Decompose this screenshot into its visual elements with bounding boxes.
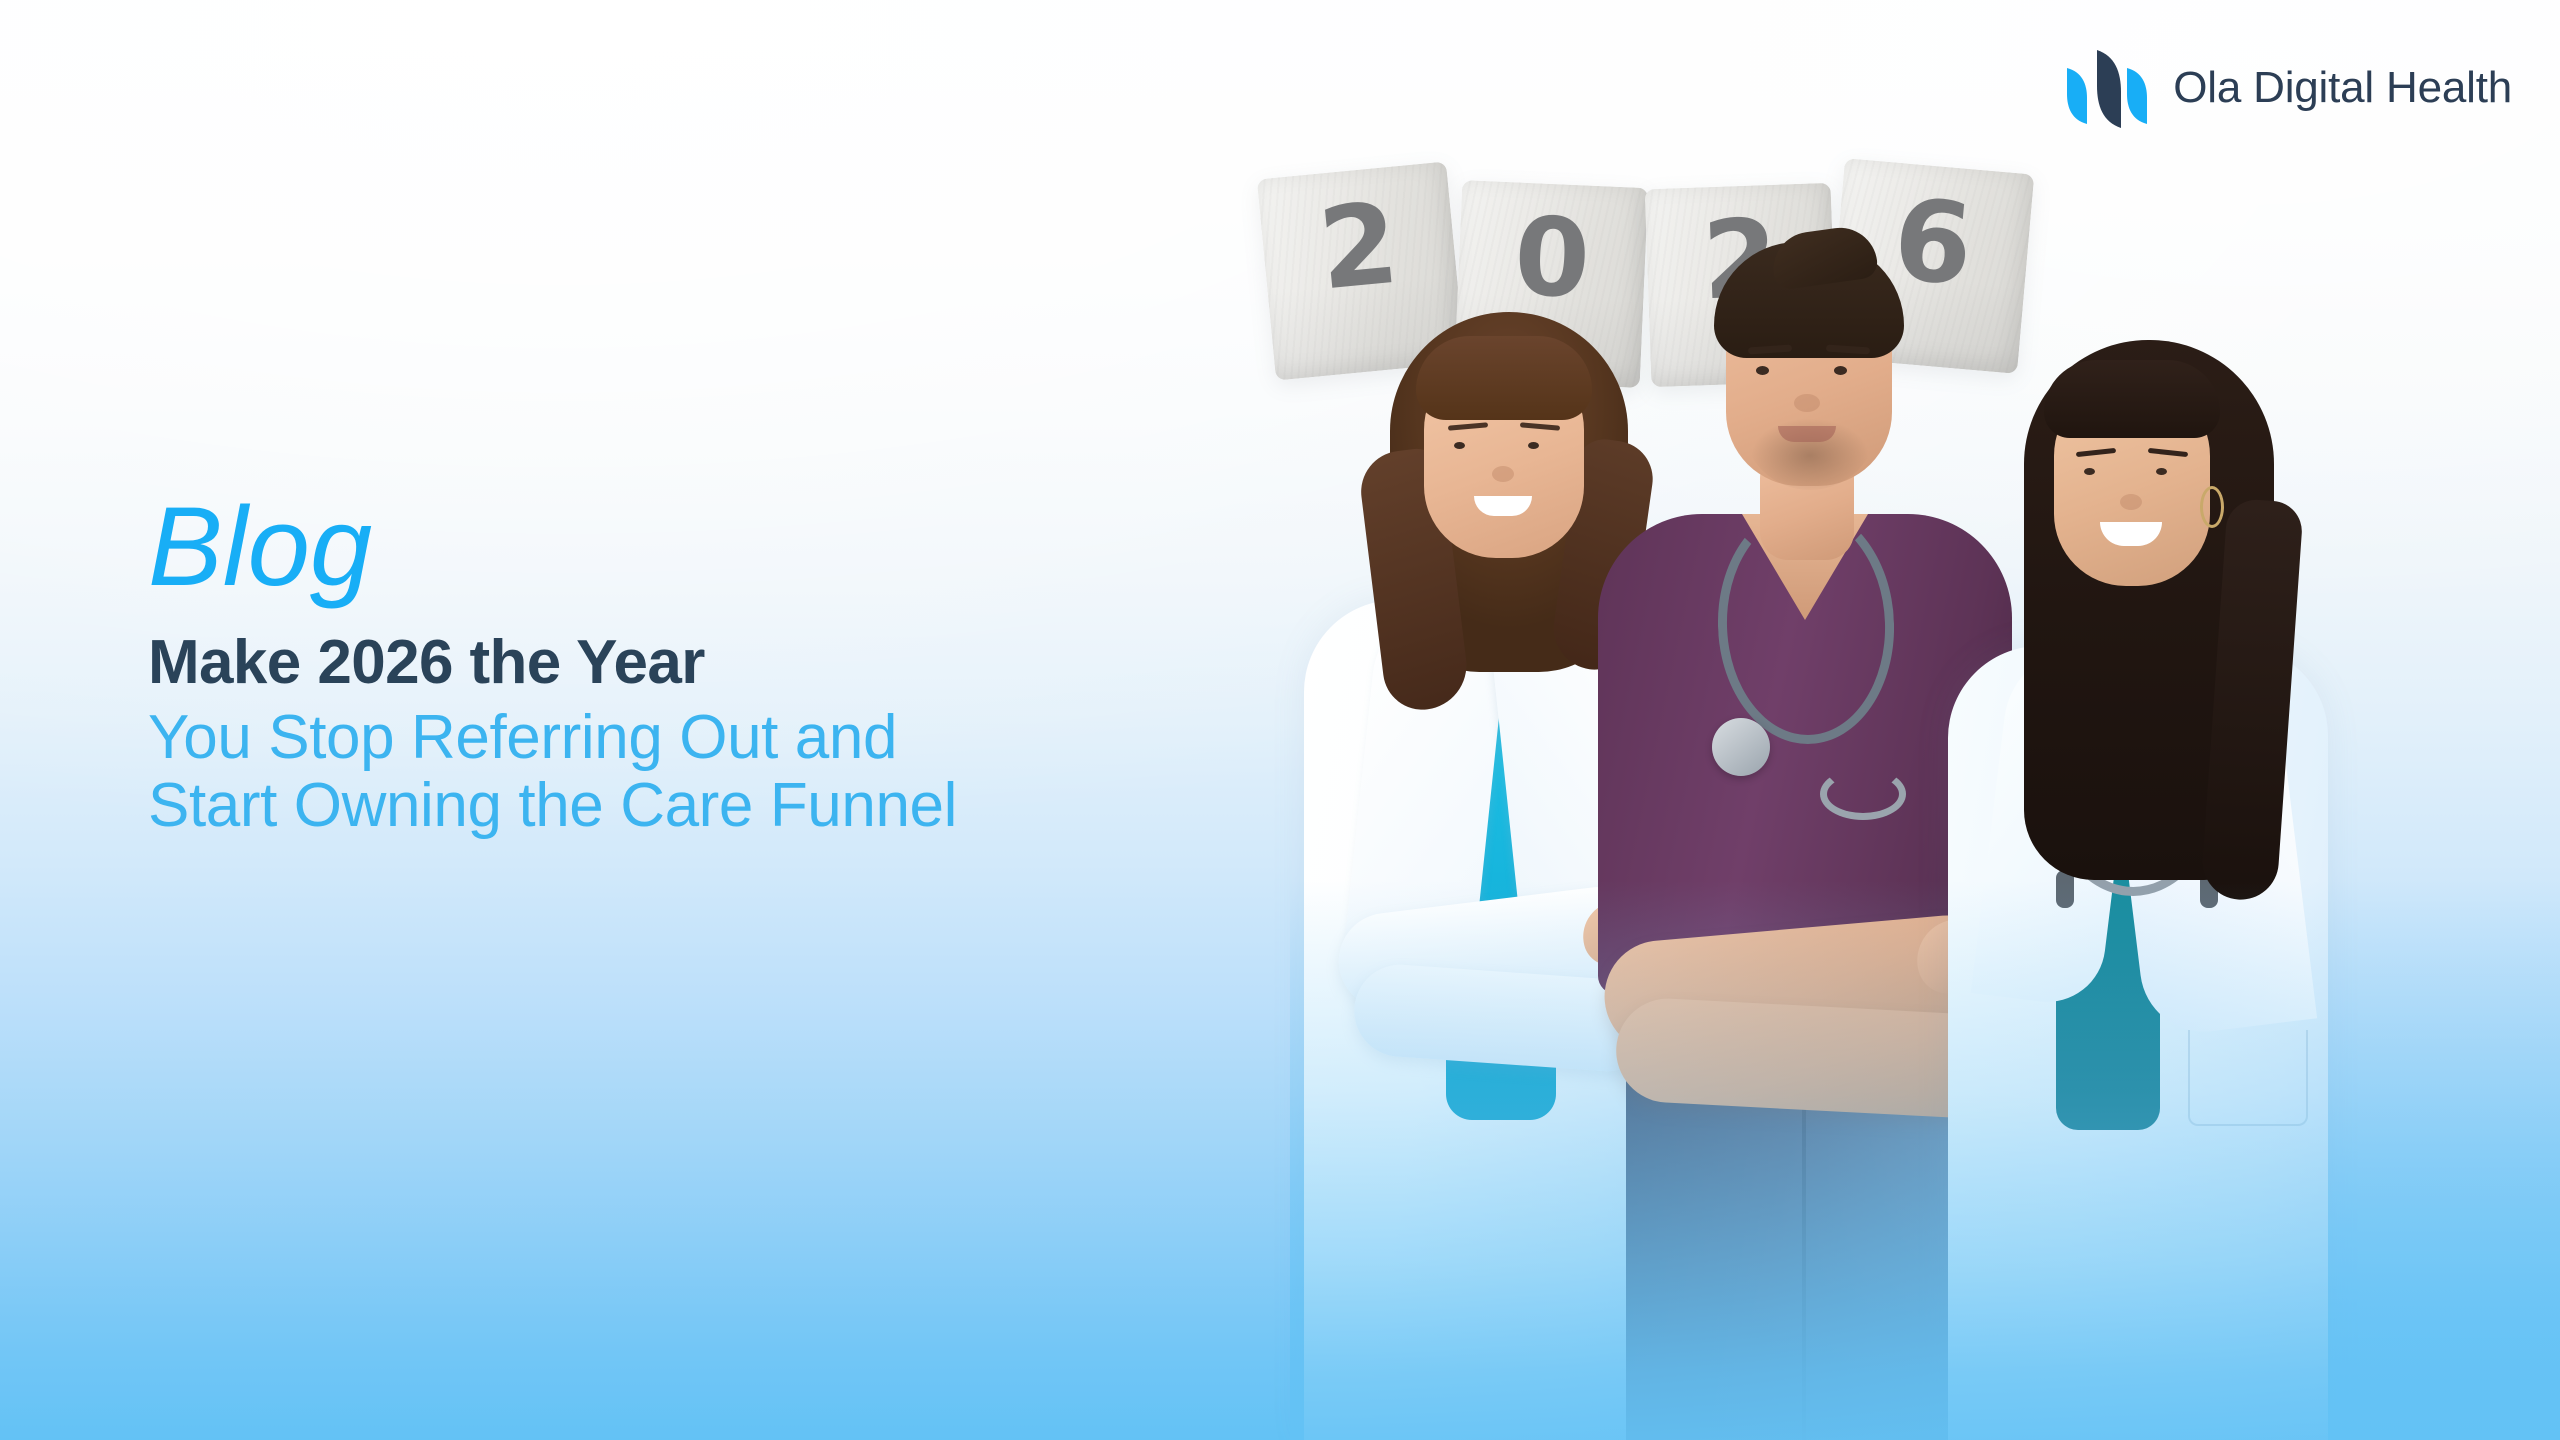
eye — [2084, 468, 2095, 475]
pants-seam — [1802, 1108, 1806, 1440]
eye — [2156, 468, 2167, 475]
hero-copy: Blog Make 2026 the Year You Stop Referri… — [148, 494, 1398, 840]
lab-coat-pocket — [2188, 1030, 2308, 1126]
hero-subline-two: Start Owning the Care Funnel — [148, 772, 1398, 840]
eye — [1834, 366, 1847, 375]
brand-logo[interactable]: Ola Digital Health — [2063, 48, 2512, 128]
nose — [2120, 494, 2142, 510]
hoop-earring — [2200, 486, 2224, 528]
nose — [1492, 466, 1514, 482]
hero-headline: Make 2026 the Year — [148, 630, 1398, 696]
hero-subline-one: You Stop Referring Out and — [148, 704, 1398, 772]
blog-kicker: Blog — [148, 494, 1398, 600]
brand-wordmark: Ola Digital Health — [2173, 66, 2512, 110]
ola-digital-health-logo-mark-icon — [2063, 48, 2151, 128]
hero-photo: 2 0 2 6 — [1290, 0, 2560, 1440]
wooden-block-digit: 2 — [1314, 179, 1404, 316]
hero-banner: 2 0 2 6 — [0, 0, 2560, 1440]
person-female-doctor-right — [1938, 330, 2358, 1440]
eye — [1454, 442, 1465, 449]
stethoscope-earpiece — [1820, 768, 1906, 820]
eye — [1528, 442, 1539, 449]
stethoscope-chestpiece — [1712, 718, 1770, 776]
eye — [1756, 366, 1769, 375]
hair-fringe — [1416, 336, 1592, 420]
smile — [1778, 426, 1836, 442]
hair-part — [2044, 360, 2220, 438]
